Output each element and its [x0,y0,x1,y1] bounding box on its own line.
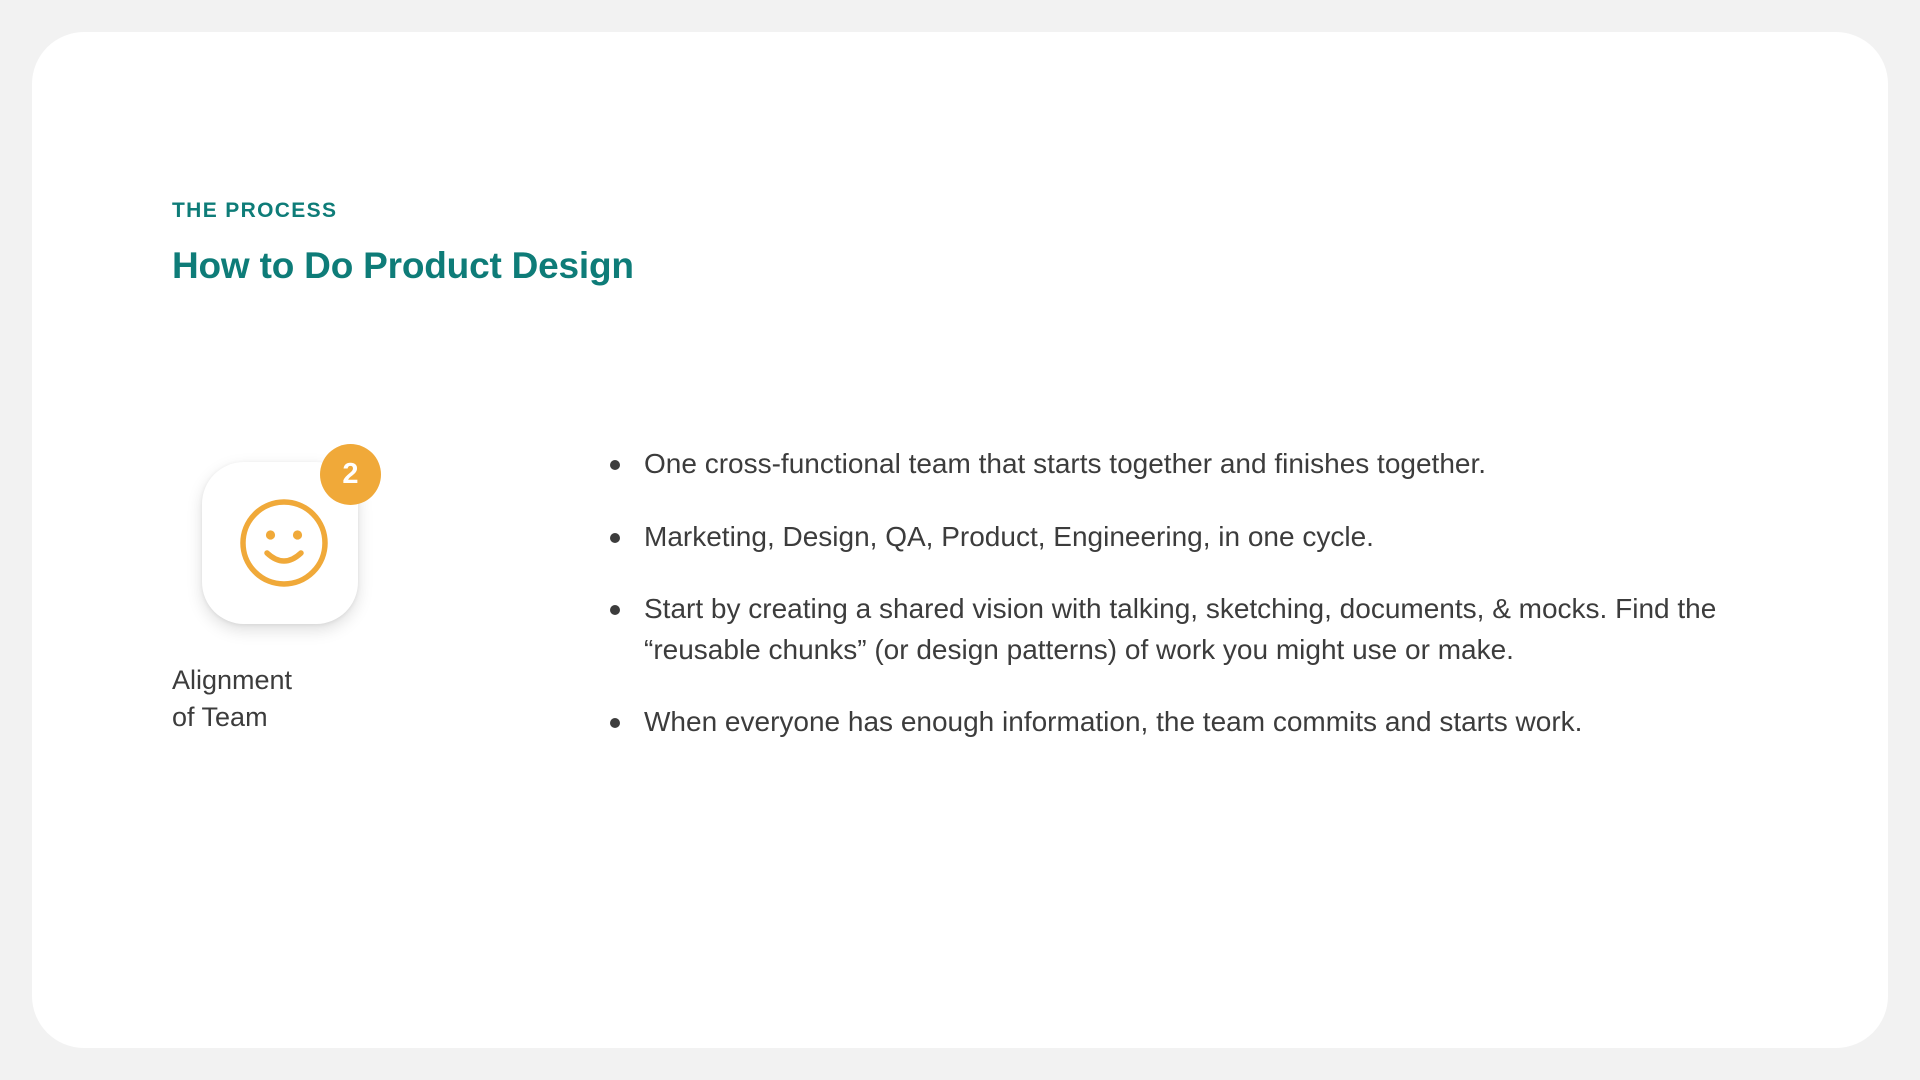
page-title: How to Do Product Design [172,221,634,284]
list-item: Marketing, Design, QA, Product, Engineer… [604,517,1724,558]
bullet-dot-icon [610,460,620,470]
icon-wrap: 2 [172,444,392,634]
list-item-text: When everyone has enough information, th… [644,706,1582,737]
step-icon-column: 2 Alignment of Team [172,444,472,737]
bullet-dot-icon [610,718,620,728]
smiley-face-icon [238,497,330,589]
slide-header: THE PROCESS How to Do Product Design [172,200,634,284]
step-caption: Alignment of Team [172,634,472,737]
list-item: When everyone has enough information, th… [604,702,1724,743]
bullet-dot-icon [610,605,620,615]
bullet-dot-icon [610,533,620,543]
step-number-badge: 2 [320,444,381,505]
list-item-text: Marketing, Design, QA, Product, Engineer… [644,521,1374,552]
list-item-text: Start by creating a shared vision with t… [644,593,1716,665]
slide-card: THE PROCESS How to Do Product Design 2 A… [32,32,1888,1048]
bullet-list: One cross-functional team that starts to… [604,444,1724,743]
eyebrow-label: THE PROCESS [172,200,634,221]
list-item-text: One cross-functional team that starts to… [644,448,1486,479]
list-item: Start by creating a shared vision with t… [604,589,1724,670]
list-item: One cross-functional team that starts to… [604,444,1724,485]
